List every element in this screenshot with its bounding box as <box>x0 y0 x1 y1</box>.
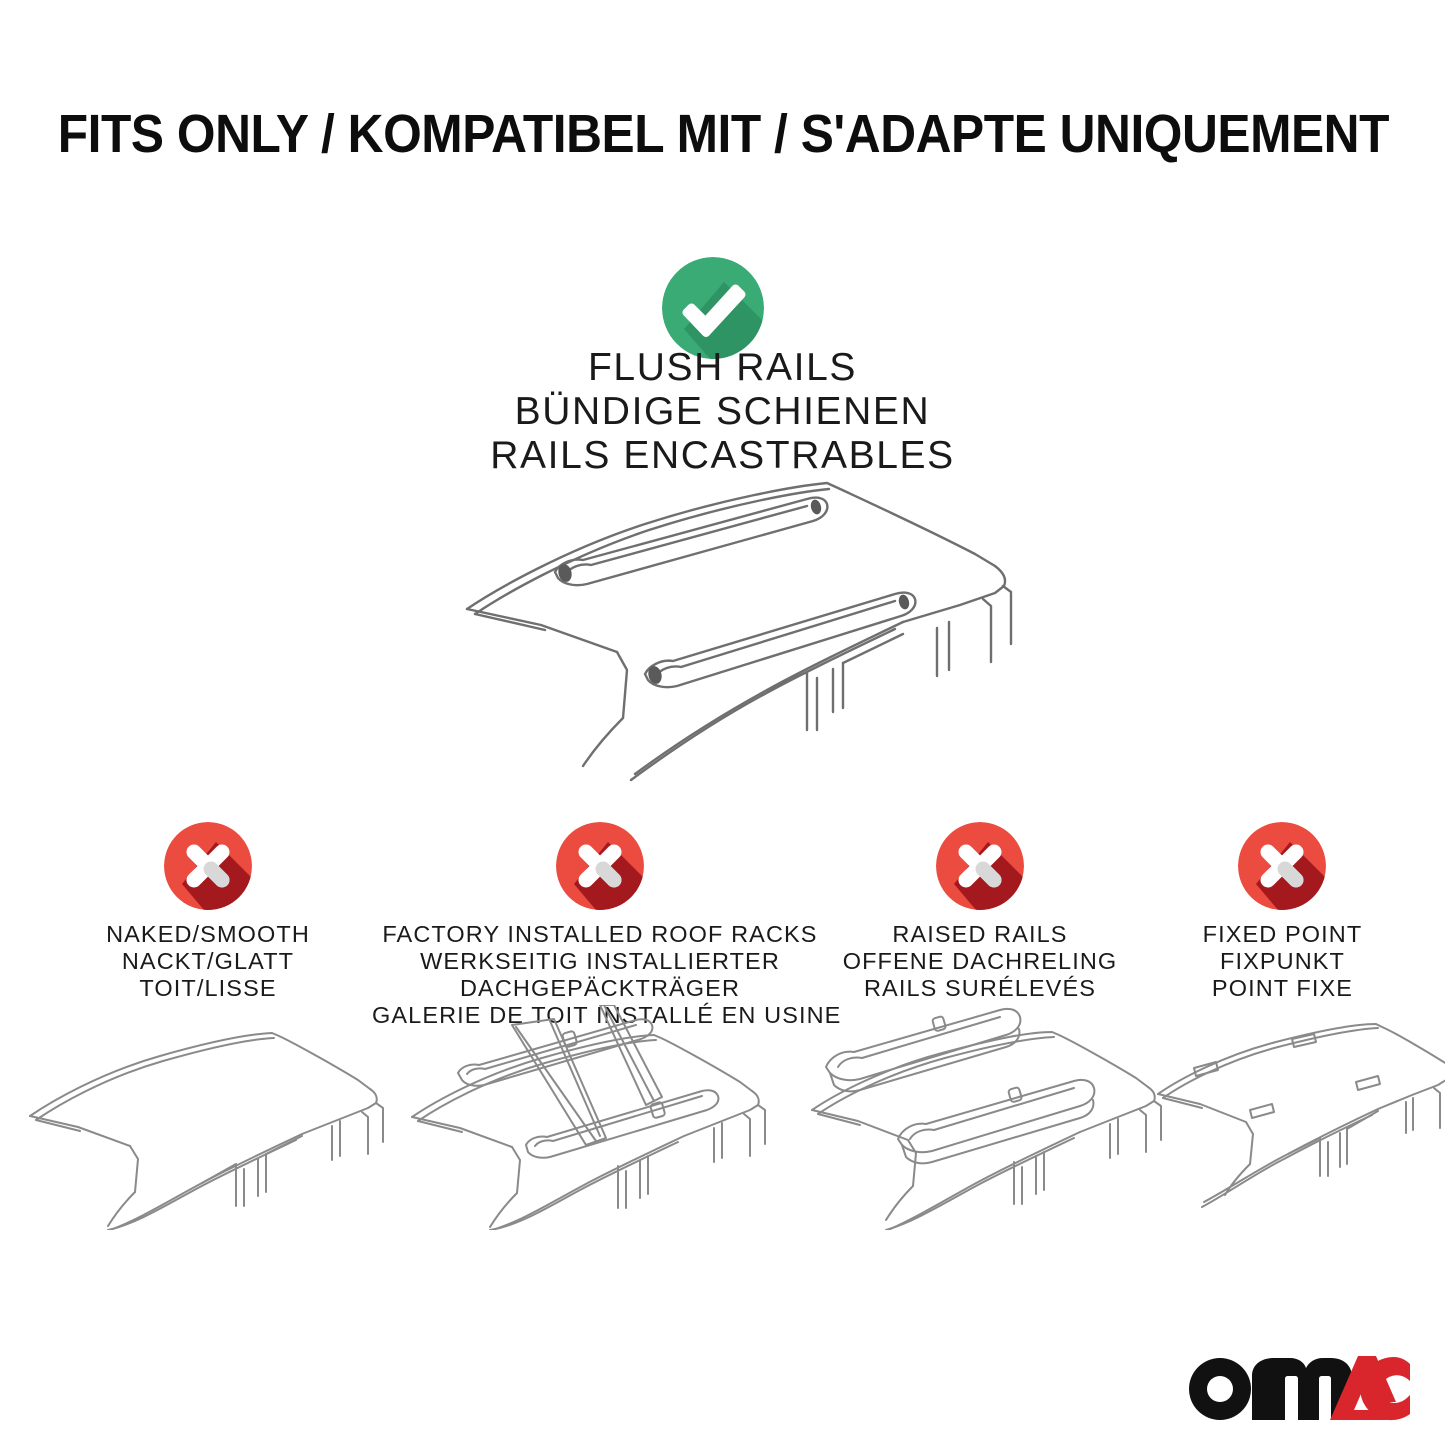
x-circle-icon <box>556 822 644 910</box>
x-circle-icon <box>936 822 1024 910</box>
x-circle-icon <box>164 822 252 910</box>
check-circle-icon <box>662 257 764 359</box>
caption-line-en: RAISED RAILS <box>800 921 1160 948</box>
compatible-caption: FLUSH RAILS BÜNDIGE SCHIENEN RAILS ENCAS… <box>0 346 1445 478</box>
incompatible-caption-naked-smooth: NAKED/SMOOTH NACKT/GLATT TOIT/LISSE <box>0 921 416 1002</box>
car-roof-bare-illustration <box>20 1020 400 1230</box>
car-roof-with-raised-rails-illustration <box>790 1005 1170 1230</box>
caption-line-de-1: WERKSEITIG INSTALLIERTER <box>372 948 828 975</box>
compatibility-infographic: FITS ONLY / KOMPATIBEL MIT / S'ADAPTE UN… <box>0 0 1445 1445</box>
caption-line-de-2: DACHGEPÄCKTRÄGER <box>372 975 828 1002</box>
compatible-line-de: BÜNDIGE SCHIENEN <box>0 390 1445 434</box>
car-roof-with-fixed-points-illustration <box>1150 1012 1445 1230</box>
caption-line-fr: RAILS SURÉLEVÉS <box>800 975 1160 1002</box>
incompatible-caption-fixed-point: FIXED POINT FIXPUNKT POINT FIXE <box>1120 921 1445 1002</box>
caption-line-fr: POINT FIXE <box>1120 975 1445 1002</box>
x-circle-icon <box>1238 822 1326 910</box>
caption-line-de: NACKT/GLATT <box>0 948 416 975</box>
car-roof-with-crossbars-illustration <box>400 1005 780 1230</box>
incompatible-caption-raised-rails: RAISED RAILS OFFENE DACHRELING RAILS SUR… <box>800 921 1160 1002</box>
caption-line-en: FIXED POINT <box>1120 921 1445 948</box>
omac-logo <box>1186 1352 1410 1424</box>
caption-line-en: NAKED/SMOOTH <box>0 921 416 948</box>
caption-line-de: OFFENE DACHRELING <box>800 948 1160 975</box>
caption-line-fr: TOIT/LISSE <box>0 975 416 1002</box>
caption-line-en: FACTORY INSTALLED ROOF RACKS <box>372 921 828 948</box>
page-title: FITS ONLY / KOMPATIBEL MIT / S'ADAPTE UN… <box>58 103 1387 165</box>
caption-line-de: FIXPUNKT <box>1120 948 1445 975</box>
compatible-line-en: FLUSH RAILS <box>0 346 1445 390</box>
car-roof-with-flush-rails-illustration <box>455 462 1015 792</box>
